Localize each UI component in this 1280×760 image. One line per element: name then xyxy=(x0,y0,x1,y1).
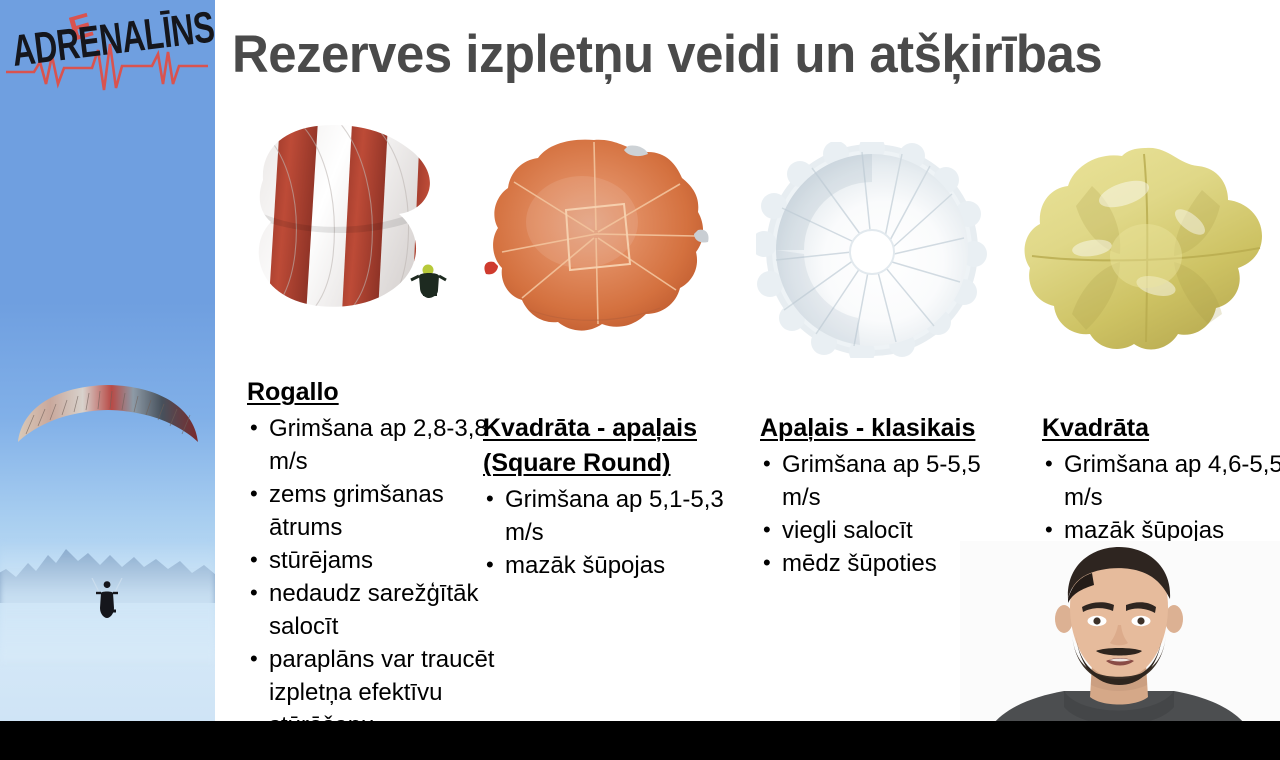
bullet-list: Grimšana ap 5,1-5,3 m/s mazāk šūpojas xyxy=(483,483,729,582)
rogallo-pilot-icon xyxy=(411,265,446,299)
column-heading: Kvadrāta xyxy=(1042,412,1149,445)
list-item: zems grimšanas ātrums xyxy=(247,478,495,544)
list-item: Grimšana ap 4,6-5,5 m/s xyxy=(1042,448,1280,514)
column-heading: Kvadrāta - apaļais xyxy=(483,412,697,445)
bullet-list: Grimšana ap 2,8-3,8 m/s zems grimšanas ā… xyxy=(247,412,495,721)
brand-logo[interactable]: E ADRENALĪNS xyxy=(0,0,215,100)
sidebar-photo-paraglider xyxy=(0,0,215,721)
paraglider-pilot-icon xyxy=(90,578,124,620)
column-heading-line2: (Square Round) xyxy=(483,447,671,480)
video-player-stage: E ADRENALĪNS Rezerves izpletņu veidi un … xyxy=(0,0,1280,760)
square-round-parachute-photo xyxy=(478,134,710,352)
column-heading: Rogallo xyxy=(247,376,339,409)
list-item: Grimšana ap 5-5,5 m/s xyxy=(760,448,1010,514)
list-item: Grimšana ap 2,8-3,8 m/s xyxy=(247,412,495,478)
list-item: Grimšana ap 5,1-5,3 m/s xyxy=(483,483,729,549)
column-heading: Apaļais - klasikais xyxy=(760,412,975,445)
letterbox-bar xyxy=(0,721,1280,760)
paraglider-wing-icon xyxy=(12,382,204,460)
list-item: mazāk šūpojas xyxy=(483,549,729,582)
column-rogallo: Rogallo Grimšana ap 2,8-3,8 m/s zems gri… xyxy=(247,376,495,721)
list-item: nedaudz sarežģītāk salocīt xyxy=(247,577,495,643)
list-item: stūrējams xyxy=(247,544,495,577)
column-square-round: Kvadrāta - apaļais (Square Round) Grimša… xyxy=(483,412,729,582)
square-parachute-photo xyxy=(1022,144,1270,358)
list-item: paraplāns var traucēt izpletņa efektīvu … xyxy=(247,643,495,721)
adrenalins-logo-icon: E ADRENALĪNS xyxy=(0,0,215,100)
rogallo-parachute-photo xyxy=(243,104,471,332)
page-title: Rezerves izpletņu veidi un atšķirības xyxy=(232,24,1230,86)
round-classic-parachute-photo xyxy=(756,142,988,358)
